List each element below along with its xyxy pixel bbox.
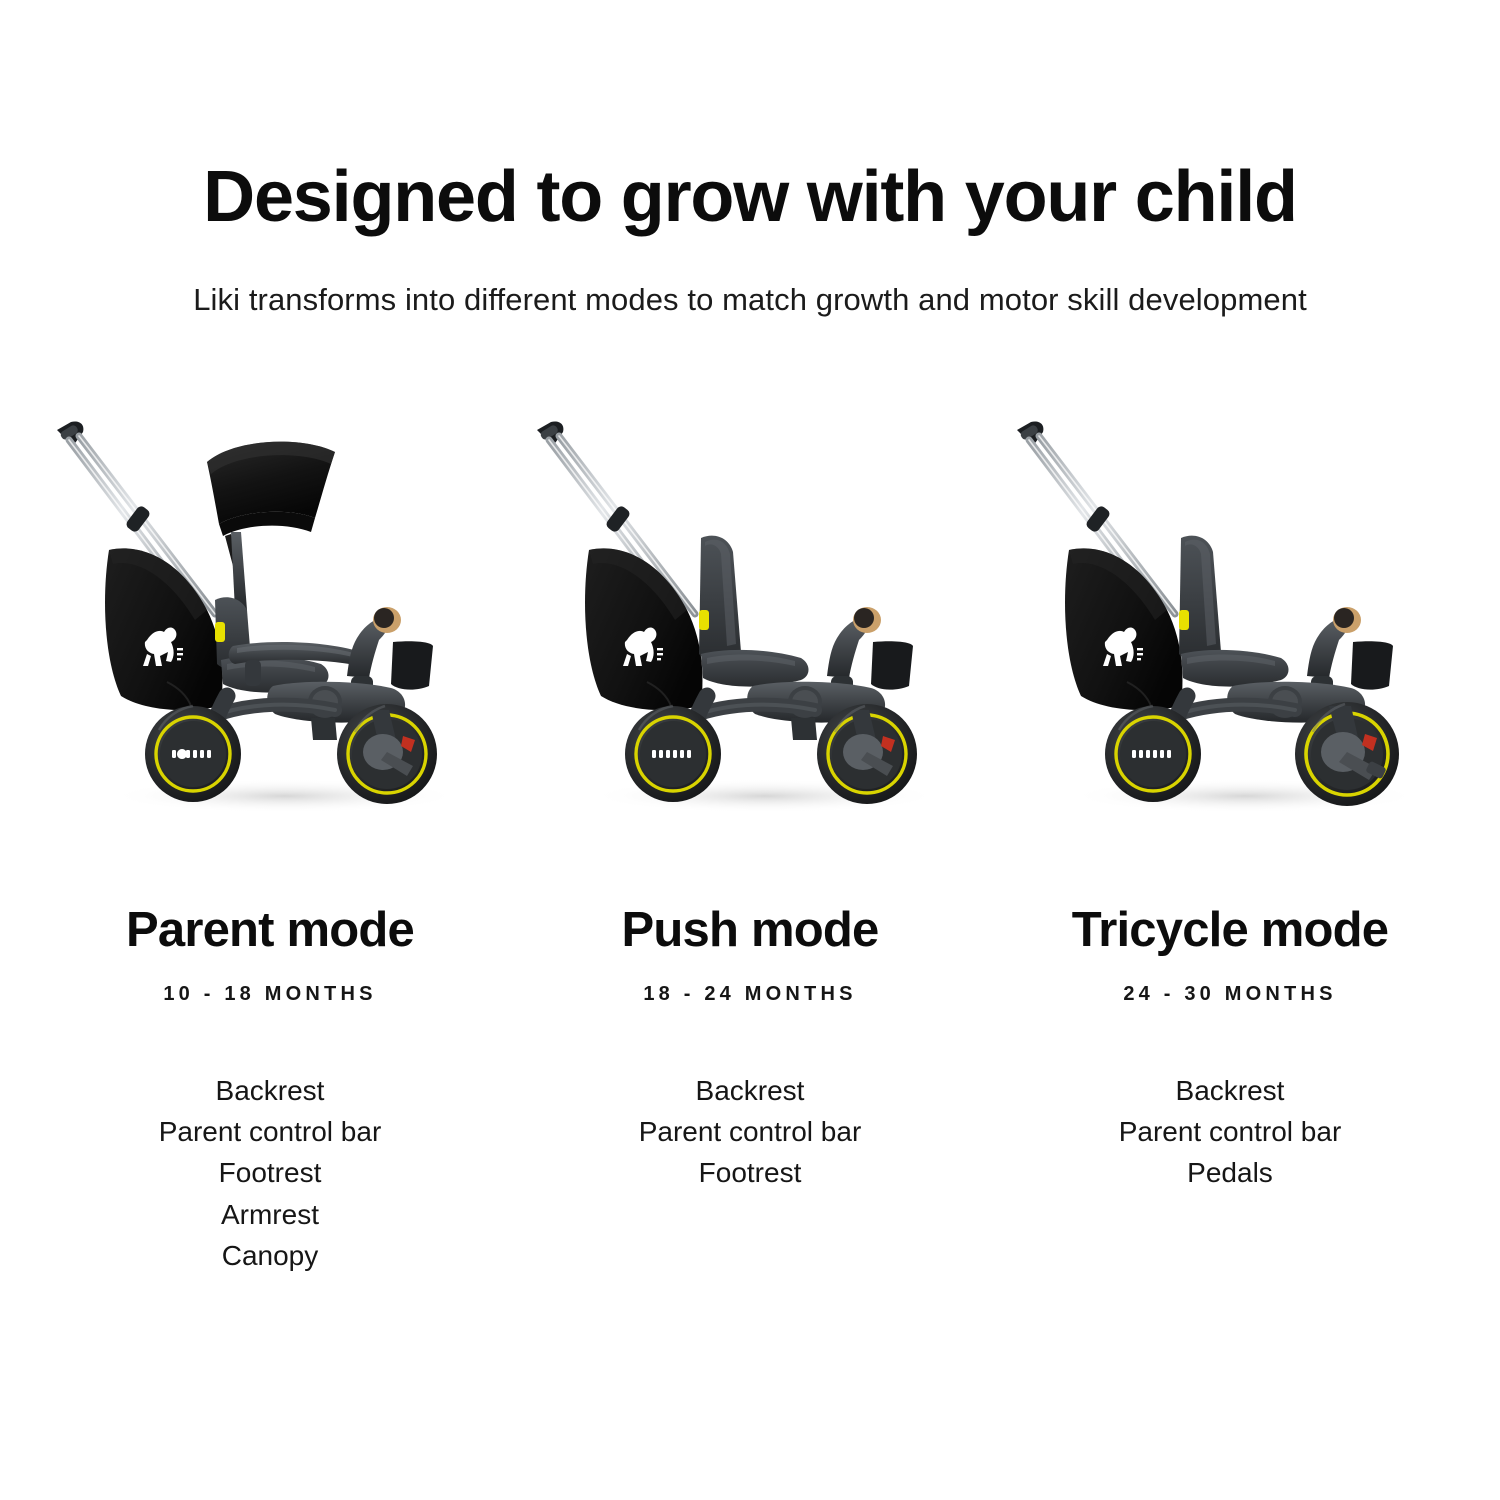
rear-wheel bbox=[145, 706, 241, 802]
feature-list-tricycle: Backrest Parent control bar Pedals bbox=[1119, 1070, 1342, 1194]
feature-item: Footrest bbox=[159, 1152, 382, 1193]
footrest bbox=[791, 718, 817, 740]
rear-wheel bbox=[625, 706, 721, 802]
infographic-page: Designed to grow with your child Liki tr… bbox=[0, 0, 1500, 1500]
backrest bbox=[105, 548, 222, 710]
cup-holder bbox=[871, 641, 913, 689]
mode-column-push: Push mode 18 - 24 MONTHS Backrest Parent… bbox=[510, 414, 990, 1277]
feature-item: Parent control bar bbox=[639, 1111, 862, 1152]
feature-item: Footrest bbox=[639, 1152, 862, 1193]
feature-item: Parent control bar bbox=[1119, 1111, 1342, 1152]
mode-title-tricycle: Tricycle mode bbox=[1072, 906, 1388, 955]
mode-columns: Parent mode 10 - 18 MONTHS Backrest Pare… bbox=[30, 414, 1470, 1277]
product-illustration-push-mode bbox=[515, 414, 985, 844]
seat bbox=[1181, 649, 1289, 686]
mode-age-parent: 10 - 18 MONTHS bbox=[163, 983, 376, 1006]
mode-age-push: 18 - 24 MONTHS bbox=[643, 983, 856, 1006]
page-subtitle: Liki transforms into different modes to … bbox=[193, 282, 1307, 318]
backrest bbox=[585, 548, 702, 710]
backrest bbox=[1065, 548, 1182, 710]
mode-column-parent: Parent mode 10 - 18 MONTHS Backrest Pare… bbox=[30, 414, 510, 1277]
rear-wheel bbox=[1105, 706, 1201, 802]
feature-item: Backrest bbox=[639, 1070, 862, 1111]
front-wheel bbox=[337, 704, 437, 804]
footrest bbox=[311, 718, 337, 740]
mode-column-tricycle: Tricycle mode 24 - 30 MONTHS Backrest Pa… bbox=[990, 414, 1470, 1277]
yellow-latch bbox=[1179, 610, 1189, 630]
yellow-latch bbox=[699, 610, 709, 630]
product-illustration-parent-mode bbox=[35, 414, 505, 844]
seat-back-frame bbox=[699, 535, 741, 661]
feature-item: Backrest bbox=[159, 1070, 382, 1111]
feature-item: Parent control bar bbox=[159, 1111, 382, 1152]
product-illustration-tricycle-mode bbox=[995, 414, 1465, 844]
feature-list-push: Backrest Parent control bar Footrest bbox=[639, 1070, 862, 1194]
mode-title-parent: Parent mode bbox=[126, 906, 414, 955]
feature-item: Armrest bbox=[159, 1194, 382, 1235]
cup-holder bbox=[1351, 641, 1393, 689]
mode-title-push: Push mode bbox=[622, 906, 879, 955]
page-title: Designed to grow with your child bbox=[203, 160, 1297, 236]
seat-back-frame bbox=[1179, 535, 1221, 661]
front-wheel bbox=[817, 704, 917, 804]
feature-item: Pedals bbox=[1119, 1152, 1342, 1193]
feature-item: Backrest bbox=[1119, 1070, 1342, 1111]
front-wheel bbox=[1295, 702, 1399, 806]
feature-list-parent: Backrest Parent control bar Footrest Arm… bbox=[159, 1070, 382, 1277]
seat bbox=[701, 649, 809, 686]
feature-item: Canopy bbox=[159, 1235, 382, 1276]
canopy bbox=[207, 441, 335, 565]
cup-holder bbox=[391, 641, 433, 689]
mode-age-tricycle: 24 - 30 MONTHS bbox=[1123, 983, 1336, 1006]
yellow-latch bbox=[215, 622, 225, 642]
